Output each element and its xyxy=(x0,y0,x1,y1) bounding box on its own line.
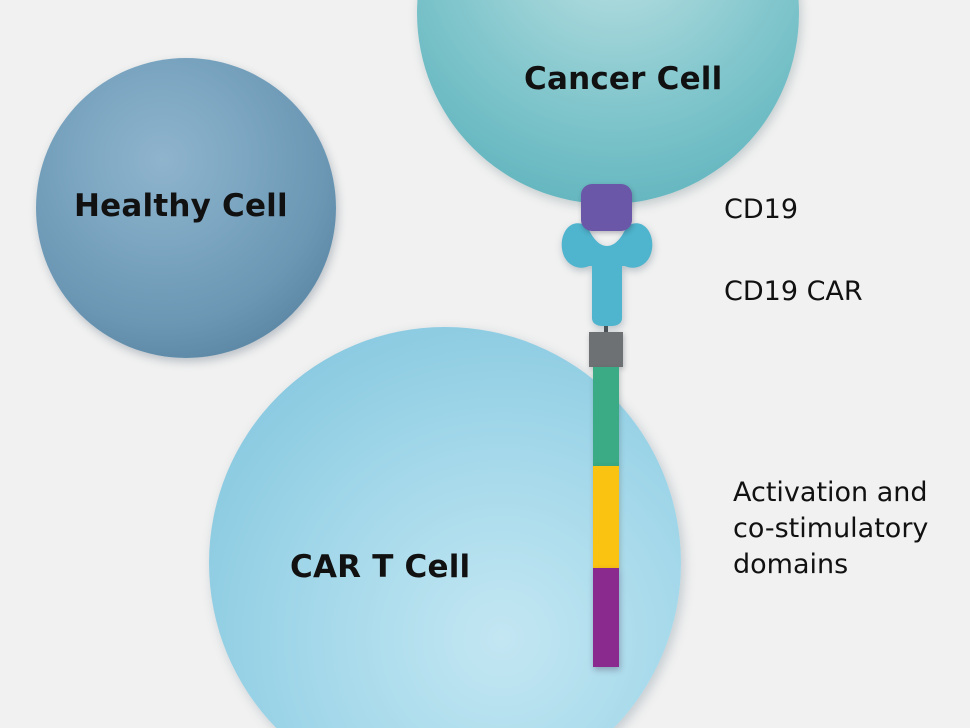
activation-domain-purple-segment xyxy=(593,568,619,667)
cd19-car-annotation-label: CD19 CAR xyxy=(724,276,863,307)
cancer-cell-label: Cancer Cell xyxy=(524,61,722,97)
healthy-cell-label: Healthy Cell xyxy=(74,188,288,224)
cd19-antigen-icon xyxy=(581,184,632,231)
car-binding-arms-icon xyxy=(559,222,655,327)
diagram-canvas: Healthy Cell Cancer Cell CAR T Cell CD19… xyxy=(0,0,970,728)
transmembrane-domain-segment xyxy=(589,332,623,367)
activation-domains-annotation-label: Activation and co-stimulatory domains xyxy=(733,475,928,584)
cancer-cell xyxy=(417,0,799,204)
costimulatory-domain-green-segment xyxy=(593,367,619,466)
car-t-cell-label: CAR T Cell xyxy=(290,549,470,585)
costimulatory-domain-yellow-segment xyxy=(593,466,619,568)
cd19-annotation-label: CD19 xyxy=(724,194,798,225)
